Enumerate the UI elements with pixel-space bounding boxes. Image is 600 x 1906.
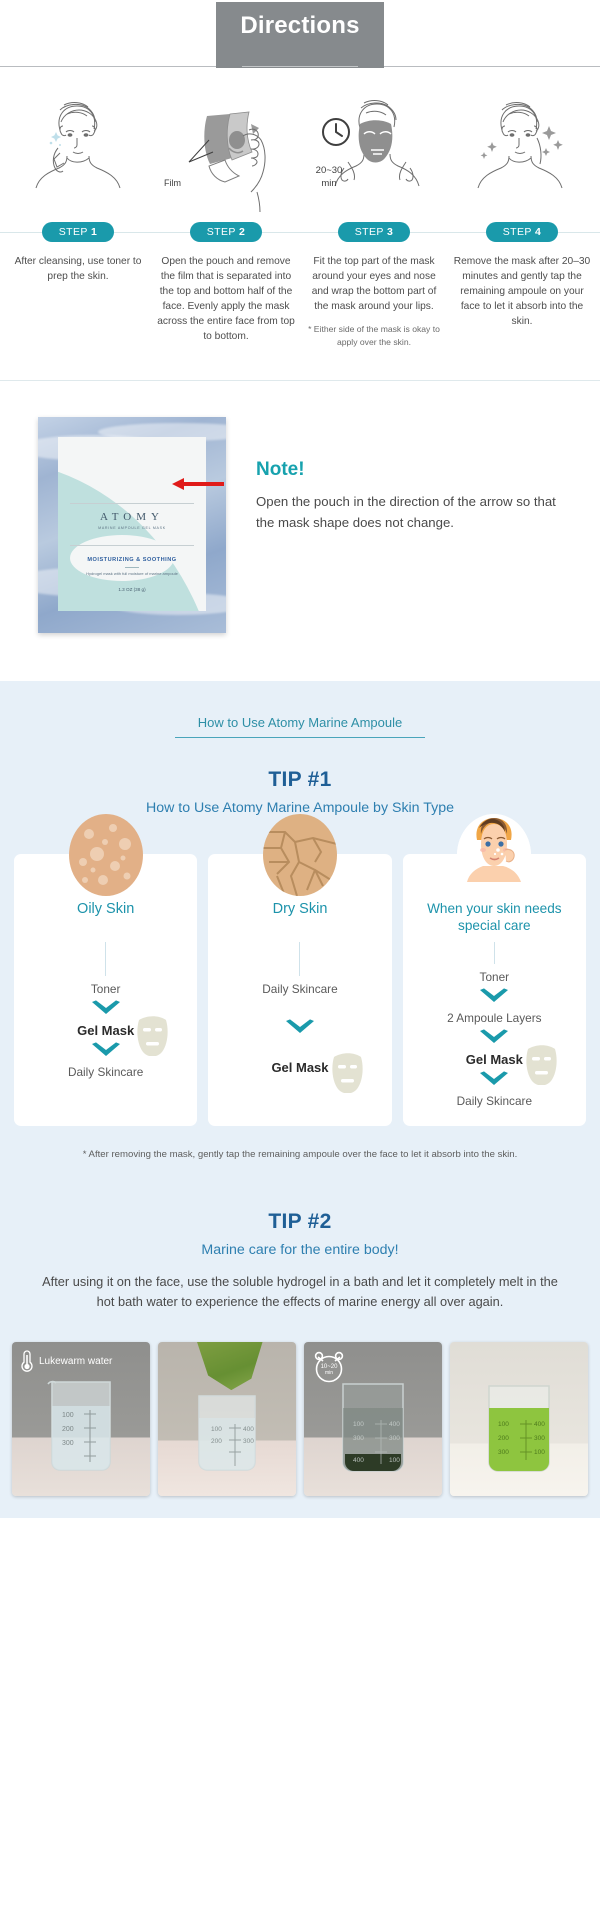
skin-type-cards: Oily Skin Toner Gel Mask bbox=[0, 816, 600, 1126]
step-4-badge-number: 4 bbox=[535, 226, 541, 238]
step-4-illustration bbox=[452, 96, 592, 212]
steps-row: STEP 1 After cleansing, use toner to pre… bbox=[0, 68, 600, 378]
step-3-timer: 20~30 min bbox=[306, 164, 352, 190]
svg-text:300: 300 bbox=[498, 1449, 509, 1456]
step-2-badge: STEP 2 bbox=[190, 222, 262, 242]
oily-skin-texture-icon bbox=[69, 814, 143, 896]
gel-mask-icon bbox=[134, 1014, 170, 1056]
step-3: 20~30 min STEP 3 Fit the top part of the… bbox=[300, 96, 448, 348]
photo-lukewarm-water: Lukewarm water 100200300 bbox=[12, 1342, 150, 1496]
step-1-badge-number: 1 bbox=[91, 226, 97, 238]
step-1-badge: STEP 1 bbox=[42, 222, 114, 242]
svg-text:300: 300 bbox=[243, 1438, 254, 1445]
beaker-icon: 100200300 400300100 bbox=[484, 1382, 554, 1476]
product-pouch-image: ATOMY MARINE AMPOULE GEL MASK MOISTURIZI… bbox=[38, 417, 226, 633]
step-1-badge-prefix: STEP bbox=[59, 226, 88, 238]
svg-text:400: 400 bbox=[243, 1426, 254, 1433]
card-special-label: When your skin needs special care bbox=[409, 900, 580, 940]
step-4-badge-prefix: STEP bbox=[503, 226, 532, 238]
chevron-down-icon bbox=[90, 1042, 122, 1061]
svg-text:300: 300 bbox=[389, 1435, 400, 1442]
note-description: Open the pouch in the direction of the a… bbox=[256, 492, 570, 534]
photo-3-tag: 10~20 min bbox=[312, 1350, 346, 1384]
svg-text:200: 200 bbox=[498, 1435, 509, 1442]
svg-text:300: 300 bbox=[353, 1435, 364, 1442]
pouch-brand: ATOMY bbox=[58, 511, 206, 523]
svg-text:400: 400 bbox=[353, 1457, 364, 1464]
step-2-badge-prefix: STEP bbox=[207, 226, 236, 238]
svg-text:100: 100 bbox=[62, 1412, 74, 1419]
chevron-down-icon bbox=[478, 1071, 510, 1090]
flow-step: Gel Mask bbox=[271, 1060, 328, 1075]
product-instruction-page: Directions bbox=[0, 0, 600, 1518]
flow-step: Daily Skincare bbox=[457, 1094, 532, 1108]
chevron-down-icon bbox=[90, 1000, 122, 1019]
step-1: STEP 1 After cleansing, use toner to pre… bbox=[4, 96, 152, 348]
step-3-badge-prefix: STEP bbox=[355, 226, 384, 238]
woman-glowing-skin-icon bbox=[474, 96, 570, 212]
tip1-title: TIP #1 bbox=[0, 768, 600, 792]
flow-step: 2 Ampoule Layers bbox=[447, 1011, 541, 1025]
step-4-description: Remove the mask after 20–30 minutes and … bbox=[452, 254, 592, 329]
step-4-badge-row: STEP 4 bbox=[452, 218, 592, 246]
dry-skin-texture-icon bbox=[263, 814, 337, 896]
note-text-block: Note! Open the pouch in the direction of… bbox=[226, 417, 570, 534]
flow-step: Gel Mask bbox=[466, 1052, 523, 1067]
card-dry-skin: Dry Skin Daily Skincare Gel Mask bbox=[208, 854, 391, 1126]
chevron-down-icon bbox=[284, 1019, 316, 1038]
photo-melting-timer: 10~20 min 100300400 400300100 bbox=[304, 1342, 442, 1496]
gel-mask-icon bbox=[523, 1043, 559, 1085]
card-dry-stem bbox=[299, 942, 300, 976]
step-4: STEP 4 Remove the mask after 20–30 minut… bbox=[448, 96, 596, 348]
pouch-label: ATOMY MARINE AMPOULE GEL MASK MOISTURIZI… bbox=[58, 437, 206, 611]
svg-text:100: 100 bbox=[498, 1421, 509, 1428]
flow-step-label: Gel Mask bbox=[77, 1023, 134, 1038]
tip2-description: After using it on the face, use the solu… bbox=[0, 1258, 600, 1312]
svg-text:300: 300 bbox=[534, 1435, 545, 1442]
svg-text:400: 400 bbox=[534, 1421, 545, 1428]
chevron-down-icon bbox=[478, 1029, 510, 1048]
pouch-description: Hydrogel mask with full moisture of mari… bbox=[58, 571, 206, 577]
svg-text:100: 100 bbox=[353, 1421, 364, 1428]
alarm-clock-icon: 10~20 min bbox=[312, 1350, 346, 1384]
flow-step-label: Gel Mask bbox=[271, 1060, 328, 1075]
film-label: Film bbox=[164, 178, 181, 188]
step-3-illustration: 20~30 min bbox=[304, 96, 444, 212]
card-oily-skin: Oily Skin Toner Gel Mask bbox=[14, 854, 197, 1126]
step-1-badge-row: STEP 1 bbox=[8, 218, 148, 246]
timer-line-2: min bbox=[306, 179, 352, 190]
photo-1-tag: Lukewarm water bbox=[20, 1350, 112, 1372]
pouch-feature: MOISTURIZING & SOOTHING bbox=[58, 557, 206, 563]
card-dry-flow: Daily Skincare Gel Mask bbox=[262, 982, 337, 1108]
bath-photo-strip: Lukewarm water 100200300 bbox=[0, 1312, 600, 1518]
step-4-badge: STEP 4 bbox=[486, 222, 558, 242]
timer-line-1: 20~30 bbox=[306, 166, 352, 177]
svg-text:400: 400 bbox=[389, 1421, 400, 1428]
woman-face-special-care-icon bbox=[457, 814, 531, 896]
chevron-down-icon bbox=[478, 988, 510, 1007]
howto-link[interactable]: How to Use Atomy Marine Ampoule bbox=[175, 715, 425, 738]
page-header: Directions bbox=[0, 0, 600, 68]
tip2-subtitle: Marine care for the entire body! bbox=[0, 1242, 600, 1258]
flow-step: Toner bbox=[480, 970, 510, 984]
tip1-footnote: * After removing the mask, gently tap th… bbox=[0, 1126, 600, 1162]
beaker-icon: 100200300 bbox=[44, 1376, 118, 1476]
hand-peeling-film-icon bbox=[171, 96, 281, 212]
pouch-brand-subtitle: MARINE AMPOULE GEL MASK bbox=[58, 526, 206, 530]
card-oily-flow: Toner Gel Mask Daily Skincare bbox=[68, 982, 143, 1108]
flow-step-label: Gel Mask bbox=[466, 1052, 523, 1067]
flow-step: Gel Mask bbox=[77, 1023, 134, 1038]
svg-text:100: 100 bbox=[389, 1457, 400, 1464]
photo-adding-gel: 100200400300 bbox=[158, 1342, 296, 1496]
step-2-illustration: Film bbox=[156, 96, 296, 212]
woman-applying-toner-icon bbox=[30, 96, 126, 212]
step-2: Film STEP 2 Open the pouch and remove th… bbox=[152, 96, 300, 348]
svg-text:200: 200 bbox=[211, 1438, 222, 1445]
svg-text:min: min bbox=[325, 1370, 333, 1376]
photo-1-caption: Lukewarm water bbox=[39, 1356, 112, 1367]
beaker-icon: 100200400300 bbox=[195, 1392, 259, 1474]
flow-step: Toner bbox=[91, 982, 121, 996]
page-title: Directions bbox=[240, 12, 359, 40]
tip2-block: TIP #2 Marine care for the entire body! … bbox=[0, 1162, 600, 1312]
step-3-badge-number: 3 bbox=[387, 226, 393, 238]
flow-step: Daily Skincare bbox=[262, 982, 337, 996]
step-1-illustration bbox=[8, 96, 148, 212]
flow-step: Daily Skincare bbox=[68, 1065, 143, 1079]
woman-wearing-mask-icon bbox=[318, 96, 430, 212]
tip2-title: TIP #2 bbox=[0, 1210, 600, 1234]
card-special-care: When your skin needs special care Toner … bbox=[403, 854, 586, 1126]
svg-text:100: 100 bbox=[534, 1449, 545, 1456]
beaker-icon: 100300400 400300100 bbox=[337, 1380, 409, 1476]
step-2-badge-row: STEP 2 bbox=[156, 218, 296, 246]
card-oily-label: Oily Skin bbox=[77, 900, 134, 940]
step-1-description: After cleansing, use toner to prep the s… bbox=[8, 254, 148, 284]
card-special-stem bbox=[494, 942, 495, 964]
step-3-badge-row: STEP 3 bbox=[304, 218, 444, 246]
tips-section: How to Use Atomy Marine Ampoule TIP #1 H… bbox=[0, 681, 600, 1518]
pouch-volume: 1.3 OZ (38 g) bbox=[58, 587, 206, 592]
svg-text:200: 200 bbox=[62, 1426, 74, 1433]
gel-mask-icon bbox=[329, 1051, 365, 1093]
card-special-flow: Toner 2 Ampoule Layers Gel Mask bbox=[447, 970, 541, 1108]
card-oily-stem bbox=[105, 942, 106, 976]
note-section: ATOMY MARINE AMPOULE GEL MASK MOISTURIZI… bbox=[0, 381, 600, 681]
thermometer-icon bbox=[20, 1350, 34, 1372]
step-2-description: Open the pouch and remove the film that … bbox=[156, 254, 296, 345]
step-3-description: Fit the top part of the mask around your… bbox=[304, 254, 444, 314]
photo-dissolved-green: 100200300 400300100 bbox=[450, 1342, 588, 1496]
svg-text:300: 300 bbox=[62, 1440, 74, 1447]
note-title: Note! bbox=[256, 459, 570, 481]
open-direction-arrow-icon bbox=[170, 477, 226, 491]
step-2-badge-number: 2 bbox=[239, 226, 245, 238]
step-3-badge: STEP 3 bbox=[338, 222, 410, 242]
step-3-footnote: * Either side of the mask is okay to app… bbox=[304, 323, 444, 347]
svg-text:100: 100 bbox=[211, 1426, 222, 1433]
card-dry-label: Dry Skin bbox=[273, 900, 328, 940]
